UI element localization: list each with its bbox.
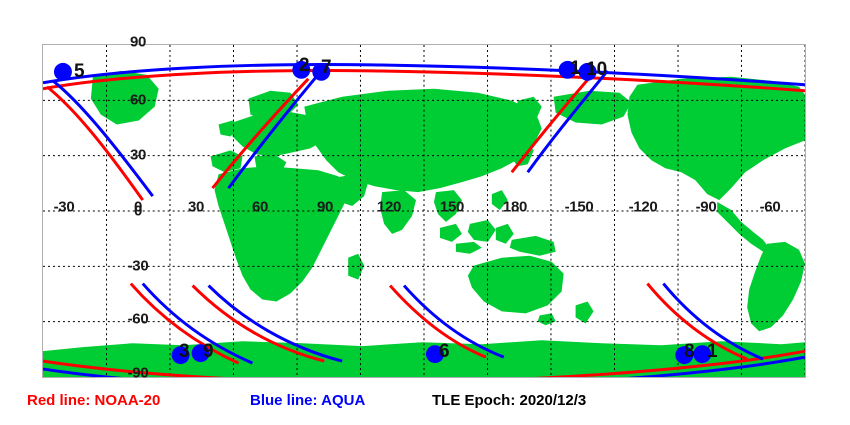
pass-marker-label-5: 5 [74, 61, 85, 83]
longitude-label-minus150: -150 [565, 199, 594, 216]
map-legend: Red line: NOAA-20 Blue line: AQUA TLE Ep… [0, 392, 850, 422]
pass-marker-label-3: 3 [179, 341, 190, 363]
latitude-label-minus60: -60 [128, 311, 149, 328]
pass-marker-label-2: 2 [299, 55, 310, 77]
pass-marker-label-1: 1 [570, 58, 581, 80]
latitude-label-30: 30 [130, 147, 146, 164]
pass-marker-label-9: 9 [203, 341, 214, 363]
longitude-label-60: 60 [252, 199, 268, 216]
longitude-label-minus30: -30 [54, 199, 75, 216]
pass-marker-label-8: 8 [684, 341, 695, 363]
world-map-plot-area: 5 2 7 1 10 3 9 6 8 1 [42, 44, 806, 378]
longitude-label-minus90: -90 [696, 199, 717, 216]
pass-marker-label-6: 6 [439, 341, 450, 363]
world-map-svg [43, 45, 805, 377]
pass-marker-5[interactable] [54, 63, 72, 81]
longitude-label-30: 30 [188, 199, 204, 216]
latitude-label-minus30: -30 [128, 258, 149, 275]
longitude-label-minus120: -120 [629, 199, 658, 216]
satellite-ground-track-figure: 5 2 7 1 10 3 9 6 8 1 90 60 30 0 -30 -60 … [0, 0, 850, 425]
latitude-label-60: 60 [130, 92, 146, 109]
longitude-label-90: 90 [317, 199, 333, 216]
legend-entry-noaa20: Red line: NOAA-20 [27, 392, 160, 409]
longitude-label-minus60: -60 [760, 199, 781, 216]
latitude-label-90: 90 [130, 34, 146, 51]
longitude-label-150: 150 [440, 199, 464, 216]
longitude-label-0: 0 [134, 199, 142, 216]
longitude-label-120: 120 [377, 199, 401, 216]
legend-entry-aqua: Blue line: AQUA [250, 392, 365, 409]
pass-marker-label-10: 10 [586, 59, 607, 81]
legend-entry-tle-epoch: TLE Epoch: 2020/12/3 [432, 392, 586, 409]
pass-marker-label-7: 7 [321, 57, 332, 79]
latitude-label-minus90: -90 [128, 365, 149, 382]
longitude-label-180: 180 [503, 199, 527, 216]
pass-marker-label-1b: 1 [707, 341, 718, 363]
